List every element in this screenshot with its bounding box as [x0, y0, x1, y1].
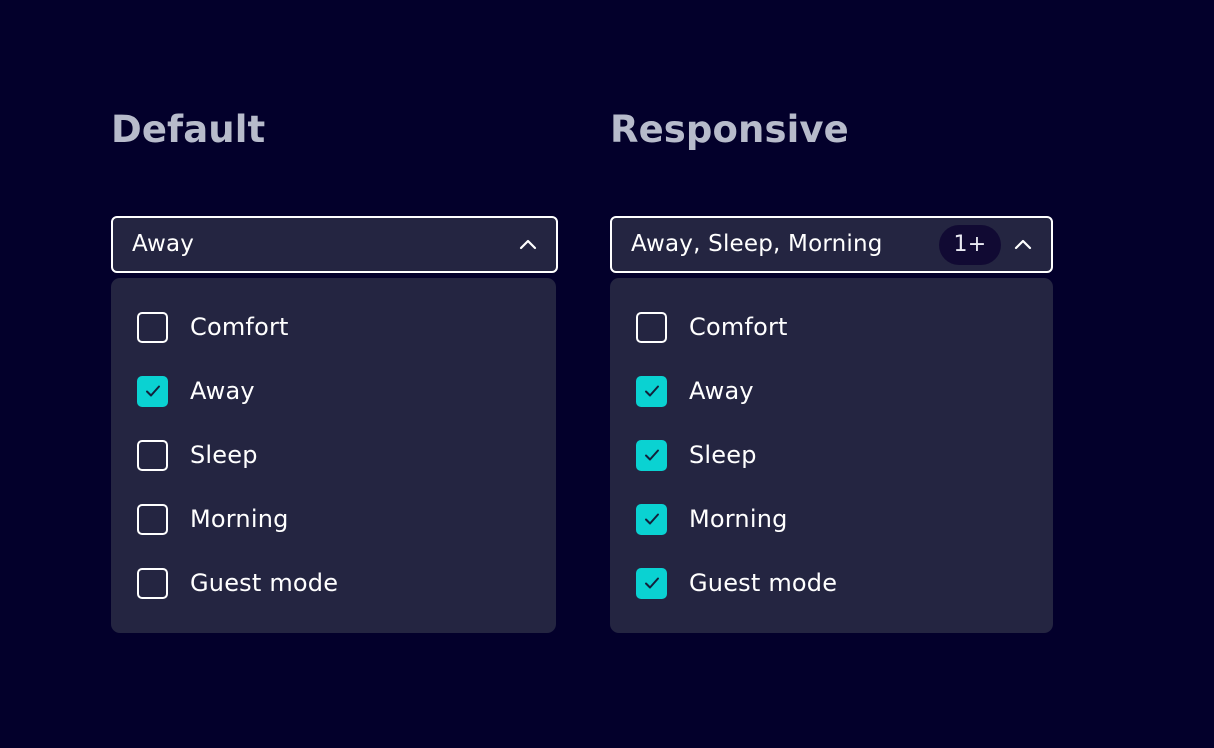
list-item-label: Guest mode [689, 571, 837, 595]
checkbox-unchecked-icon[interactable] [137, 568, 168, 599]
page-title-responsive: Responsive [610, 106, 849, 154]
list-item-label: Morning [190, 507, 289, 531]
dropdown-trigger-responsive[interactable]: Away, Sleep, Morning 1+ [610, 216, 1053, 273]
checkbox-checked-icon[interactable] [636, 568, 667, 599]
checkbox-unchecked-icon[interactable] [636, 312, 667, 343]
list-item[interactable]: Comfort [111, 295, 556, 359]
status-badge: 1+ [939, 225, 1001, 265]
dropdown-trigger-default[interactable]: Away [111, 216, 558, 273]
checkbox-checked-icon[interactable] [636, 440, 667, 471]
list-item[interactable]: Guest mode [111, 551, 556, 615]
checkbox-unchecked-icon[interactable] [137, 440, 168, 471]
list-item[interactable]: Away [111, 359, 556, 423]
list-item[interactable]: Morning [111, 487, 556, 551]
list-item-label: Sleep [689, 443, 757, 467]
list-item[interactable]: Comfort [610, 295, 1053, 359]
checkbox-unchecked-icon[interactable] [137, 312, 168, 343]
screen: Default Away Comfort [0, 0, 1214, 748]
list-item-label: Comfort [689, 315, 788, 339]
list-item-label: Away [689, 379, 754, 403]
list-item-label: Guest mode [190, 571, 338, 595]
dropdown-trigger-label-responsive: Away, Sleep, Morning [631, 233, 939, 256]
dropdown-panel-responsive: Comfort Away Sleep [610, 278, 1053, 633]
checkbox-checked-icon[interactable] [137, 376, 168, 407]
list-item[interactable]: Sleep [111, 423, 556, 487]
page-title-default: Default [111, 106, 265, 154]
list-item-label: Morning [689, 507, 788, 531]
list-item[interactable]: Guest mode [610, 551, 1053, 615]
checkbox-checked-icon[interactable] [636, 504, 667, 535]
list-item-label: Comfort [190, 315, 289, 339]
chevron-up-icon[interactable] [1011, 233, 1035, 257]
checkbox-unchecked-icon[interactable] [137, 504, 168, 535]
list-item-label: Away [190, 379, 255, 403]
checkbox-checked-icon[interactable] [636, 376, 667, 407]
list-item[interactable]: Away [610, 359, 1053, 423]
list-item[interactable]: Sleep [610, 423, 1053, 487]
list-item-label: Sleep [190, 443, 258, 467]
dropdown-trigger-label-default: Away [132, 233, 516, 256]
chevron-up-icon[interactable] [516, 233, 540, 257]
list-item[interactable]: Morning [610, 487, 1053, 551]
dropdown-panel-default: Comfort Away Sleep [111, 278, 556, 633]
